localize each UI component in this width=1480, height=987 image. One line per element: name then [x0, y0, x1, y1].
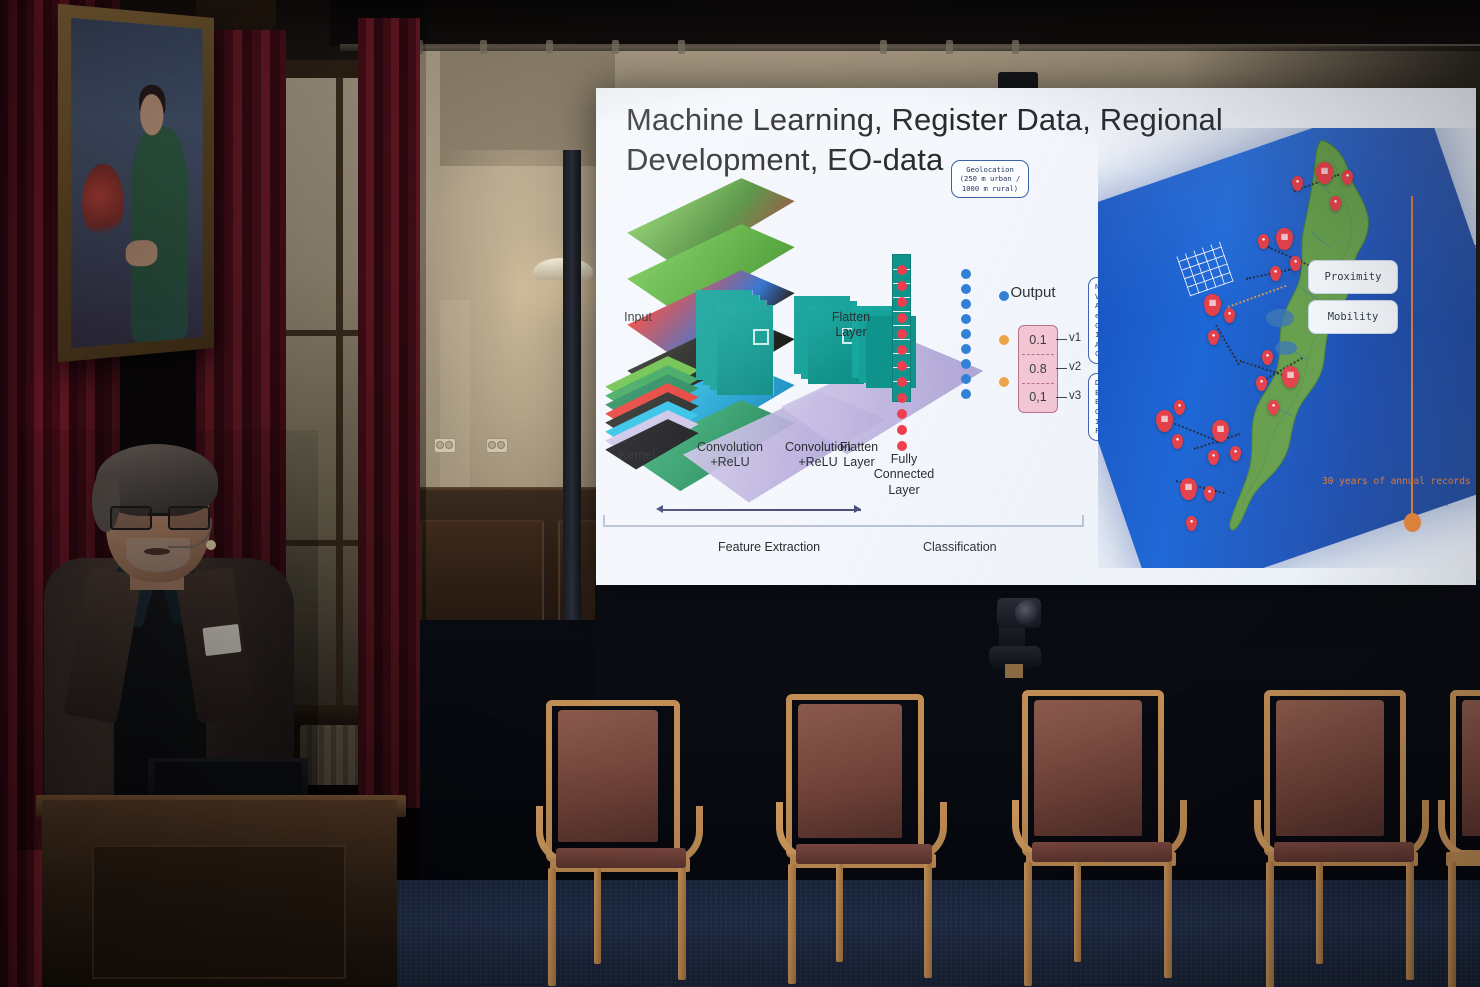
power-outlet-1: [434, 438, 456, 453]
presentation-screen: Machine Learning, Register Data, Regiona…: [596, 88, 1476, 585]
output-value-2: 0,1: [1019, 383, 1057, 412]
painted-figure-body: [131, 125, 188, 343]
power-outlet-2: [486, 438, 508, 453]
framed-portrait-painting: [58, 4, 214, 363]
chair-3: [1008, 690, 1194, 986]
output-label-v2: v2: [1069, 361, 1081, 373]
label-kernel: Kernel: [606, 448, 668, 463]
name-badge: [202, 624, 241, 656]
geolocation-callout: Geolocation (250 m urban / 1000 m rural): [951, 160, 1029, 198]
ceiling: [330, 0, 1480, 46]
output-label-v3: v3: [1069, 390, 1081, 402]
chair-1: [532, 700, 712, 980]
wall-recess: [440, 46, 615, 166]
conference-room-scene: Machine Learning, Register Data, Regiona…: [0, 0, 1480, 987]
label-input: Input: [610, 310, 666, 325]
timeline-label: 30 years of annual records: [1322, 476, 1471, 487]
camera-mount: [1005, 664, 1023, 678]
label-fully-connected: Fully Connected Layer: [868, 452, 940, 498]
label-flatten-top: FlattenLayer: [818, 310, 884, 341]
painted-figure-arm: [126, 240, 157, 267]
label-feature-extraction: Feature Extraction: [718, 540, 820, 554]
lectern-panel: [92, 845, 346, 979]
proximity-box: Proximity: [1308, 260, 1398, 294]
output-probability-block: 0.1 0.8 0,1: [1018, 325, 1058, 413]
dark-column: [563, 150, 581, 620]
label-classification: Classification: [923, 540, 997, 554]
chair-5-partial: [1436, 690, 1480, 987]
chair-2: [772, 694, 952, 984]
painted-flowers: [82, 163, 123, 242]
mobility-box: Mobility: [1308, 300, 1398, 334]
camera-lens: [1015, 600, 1041, 626]
output-label-v1: v1: [1069, 332, 1081, 344]
sweden-map: ▦ ● ● ● ▦ ● ● ● ▦ ● ● ● ▦ ● ● ▦ ● ● ▦ ● …: [1098, 128, 1476, 568]
output-value-1: 0.8: [1019, 355, 1057, 384]
label-convolution-1: Convolution+ReLU: [684, 440, 776, 471]
ptz-conference-camera: [983, 598, 1045, 676]
chair-4: [1250, 690, 1436, 987]
painting-canvas: [71, 18, 202, 348]
label-output: Output: [998, 284, 1068, 302]
curtain-right: [358, 18, 420, 808]
presenter-mouth: [144, 548, 170, 555]
output-value-0: 0.1: [1019, 326, 1057, 355]
